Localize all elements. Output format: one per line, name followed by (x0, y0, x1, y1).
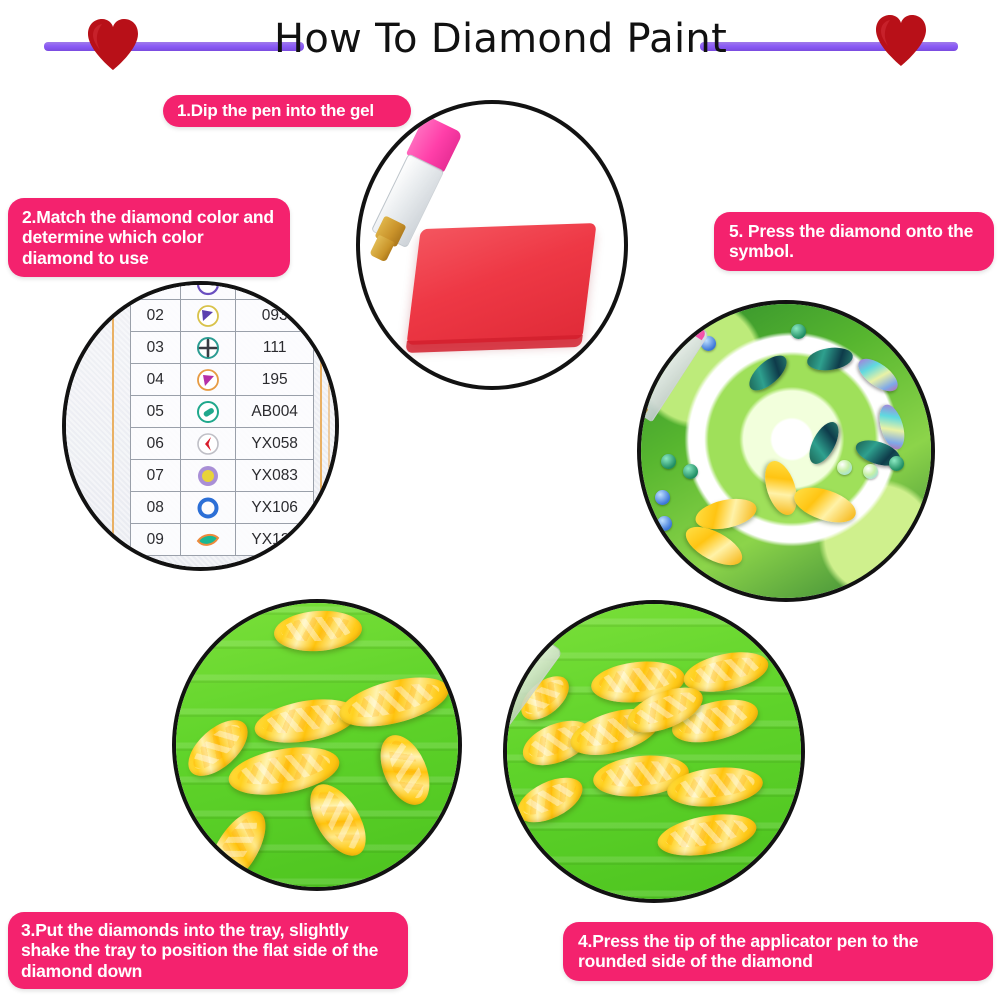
row-symbol (180, 492, 236, 524)
table-row: 09 YX125 (131, 524, 314, 556)
chart-paper: 01 020 02 (62, 281, 339, 571)
step-5-label: 5. Press the diamond onto the symbol. (714, 212, 994, 271)
magenta-wedge-icon (195, 367, 221, 393)
left-arrow-icon (195, 431, 221, 457)
leaf-lens-icon (195, 527, 221, 553)
row-symbol (180, 396, 236, 428)
row-code: YX106 (236, 492, 314, 524)
row-number: 04 (131, 364, 181, 396)
table-row: 02 093 (131, 300, 314, 332)
table-row: 06 YX058 (131, 428, 314, 460)
row-code: 020 (236, 281, 314, 300)
step-2-photo: 01 020 02 (62, 281, 339, 571)
gem-dot (837, 460, 852, 475)
double-dot-circle-icon (195, 281, 221, 297)
step-4-label: 4.Press the tip of the applicator pen to… (563, 922, 993, 981)
step-3-label: 3.Put the diamonds into the tray, slight… (8, 912, 408, 989)
table-row: 01 020 (131, 281, 314, 300)
table-row: 04 195 (131, 364, 314, 396)
row-code: AB004 (236, 396, 314, 428)
step-3-photo (172, 599, 462, 891)
paper-margin-line-right (320, 281, 322, 571)
row-code: 195 (236, 364, 314, 396)
gem-dot (655, 490, 670, 505)
gem-dot (889, 456, 904, 471)
diamond-tray-scene (176, 603, 458, 887)
step-1-photo (356, 100, 628, 390)
slanted-bar-icon (195, 399, 221, 425)
step-2-label: 2.Match the diamond color and determine … (8, 198, 290, 277)
mandala-scene (641, 304, 931, 598)
row-symbol (180, 364, 236, 396)
row-number: 06 (131, 428, 181, 460)
row-code: 093 (236, 300, 314, 332)
table-row: 08 YX106 (131, 492, 314, 524)
gem-dot (863, 464, 878, 479)
row-number: 01 (131, 281, 181, 300)
row-number: 05 (131, 396, 181, 428)
row-symbol (180, 460, 236, 492)
table-row: 05 AB004 (131, 396, 314, 428)
row-symbol (180, 332, 236, 364)
red-gel-pad (406, 223, 596, 345)
gem-dot (791, 324, 806, 339)
row-symbol (180, 524, 236, 556)
page-header: How To Diamond Paint (0, 0, 1001, 88)
triangle-wedge-icon (195, 303, 221, 329)
row-number: 03 (131, 332, 181, 364)
plus-cross-icon (195, 335, 221, 361)
table-row: 07 YX083 (131, 460, 314, 492)
page-title: How To Diamond Paint (0, 16, 1001, 62)
row-code: YX058 (236, 428, 314, 460)
row-symbol (180, 281, 236, 300)
ring-icon (195, 495, 221, 521)
paper-margin-line-edge (328, 281, 330, 571)
gem-dot (683, 464, 698, 479)
row-number: 07 (131, 460, 181, 492)
step-5-photo (637, 300, 935, 602)
row-code: YX125 (236, 524, 314, 556)
gem-dot (661, 454, 676, 469)
symbol-chart-table: 01 020 02 (130, 281, 314, 556)
symbol-chart-scene: 01 020 02 (66, 285, 335, 567)
row-symbol (180, 428, 236, 460)
paper-margin-line-left (112, 281, 114, 571)
row-number: 02 (131, 300, 181, 332)
row-number: 09 (131, 524, 181, 556)
infographic-root: How To Diamond Paint 1.Dip the pen into … (0, 0, 1001, 1001)
row-code: 111 (236, 332, 314, 364)
row-number: 08 (131, 492, 181, 524)
filled-dot-icon (195, 463, 221, 489)
gel-pad-scene (360, 104, 624, 386)
pickup-diamond-scene (507, 604, 801, 899)
row-code: YX083 (236, 460, 314, 492)
row-symbol (180, 300, 236, 332)
pen-brass-ring-icon (503, 705, 504, 757)
step-4-photo (503, 600, 805, 903)
table-row: 03 111 (131, 332, 314, 364)
gem-dot (657, 516, 672, 531)
